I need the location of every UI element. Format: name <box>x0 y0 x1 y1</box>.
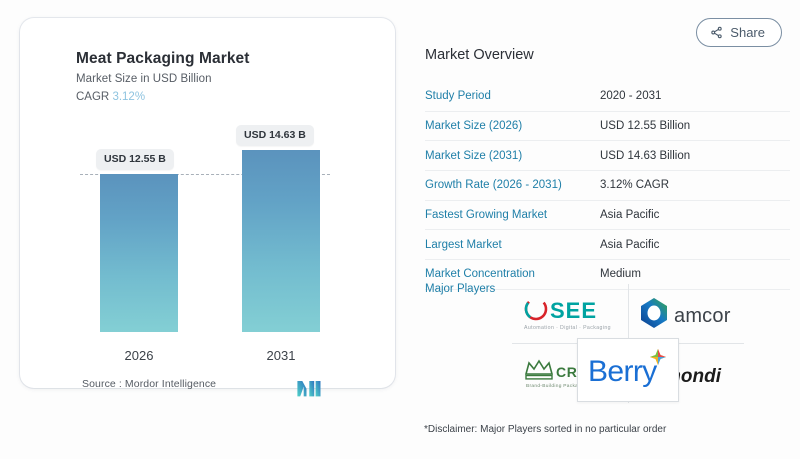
x-tick-2031: 2031 <box>242 348 320 363</box>
svg-text:SEE: SEE <box>550 298 597 323</box>
row-key: Market Size (2031) <box>425 150 600 162</box>
table-row: Fastest Growing Market Asia Pacific <box>425 201 790 231</box>
row-value: 2020 - 2031 <box>600 90 661 102</box>
disclaimer-text: *Disclaimer: Major Players sorted in no … <box>424 424 666 435</box>
svg-text:Automation · Digital · Packagi: Automation · Digital · Packaging <box>524 325 611 331</box>
table-row: Market Size (2026) USD 12.55 Billion <box>425 112 790 142</box>
data-label-2031: USD 14.63 B <box>236 125 314 146</box>
bar-2031[interactable] <box>242 150 320 332</box>
share-nodes-icon <box>710 26 723 39</box>
svg-text:amcor: amcor <box>674 305 731 327</box>
mordor-intelligence-logo-icon <box>296 378 324 398</box>
row-value: USD 14.63 Billion <box>600 150 690 162</box>
player-logo-see[interactable]: SEE Automation · Digital · Packaging <box>514 284 626 342</box>
chart-card: Meat Packaging Market Market Size in USD… <box>20 18 395 388</box>
row-key: Fastest Growing Market <box>425 209 600 221</box>
share-button[interactable]: Share <box>696 18 782 47</box>
overview-title: Market Overview <box>425 47 534 63</box>
player-logo-amcor[interactable]: amcor <box>632 284 744 342</box>
table-row: Largest Market Asia Pacific <box>425 230 790 260</box>
source-text: Source : Mordor Intelligence <box>82 378 216 390</box>
row-value: USD 12.55 Billion <box>600 120 690 132</box>
bar-chart-plot: USD 12.55 B USD 14.63 B 2026 2031 <box>20 18 395 388</box>
svg-text:Berry: Berry <box>588 355 657 388</box>
row-value: Asia Pacific <box>600 239 659 251</box>
table-row: Study Period 2020 - 2031 <box>425 82 790 112</box>
row-key: Market Size (2026) <box>425 120 600 132</box>
row-value: 3.12% CAGR <box>600 179 669 191</box>
grid-divider-vertical-top <box>628 284 629 344</box>
row-key: Largest Market <box>425 239 600 251</box>
bar-2026[interactable] <box>100 174 178 332</box>
player-logo-berry[interactable]: Berry <box>577 338 679 402</box>
share-button-label: Share <box>730 25 765 40</box>
row-value: Medium <box>600 268 641 280</box>
x-tick-2026: 2026 <box>100 348 178 363</box>
major-players-label: Major Players <box>425 283 495 295</box>
row-value: Asia Pacific <box>600 209 659 221</box>
row-key: Study Period <box>425 90 600 102</box>
table-row: Growth Rate (2026 - 2031) 3.12% CAGR <box>425 171 790 201</box>
data-label-2026: USD 12.55 B <box>96 149 174 170</box>
table-row: Market Size (2031) USD 14.63 Billion <box>425 141 790 171</box>
row-key: Market Concentration <box>425 268 600 280</box>
market-overview-table: Study Period 2020 - 2031 Market Size (20… <box>425 82 790 290</box>
row-key: Growth Rate (2026 - 2031) <box>425 179 600 191</box>
report-canvas: Meat Packaging Market Market Size in USD… <box>0 0 800 459</box>
